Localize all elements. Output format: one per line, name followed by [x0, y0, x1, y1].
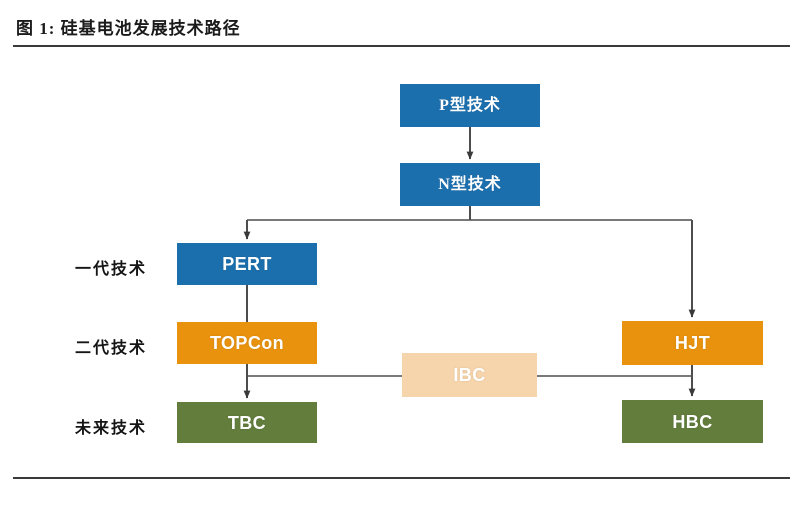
node-tbc[interactable]: TBC: [177, 402, 317, 443]
node-p-type[interactable]: P型技术: [400, 84, 540, 127]
diagram-canvas: 一代技术 二代技术 未来技术 P型技术 N型技术 PERT TOPCon TBC…: [0, 46, 808, 477]
page-title: 图 1: 硅基电池发展技术路径: [16, 14, 241, 39]
node-n-type[interactable]: N型技术: [400, 163, 540, 206]
row-label-gen2: 二代技术: [75, 334, 147, 358]
row-label-gen1: 一代技术: [75, 255, 147, 279]
node-hjt[interactable]: HJT: [622, 321, 763, 365]
row-label-future: 未来技术: [75, 414, 147, 438]
node-pert[interactable]: PERT: [177, 243, 317, 285]
footer-divider: [13, 477, 790, 479]
node-hbc[interactable]: HBC: [622, 400, 763, 443]
node-topcon[interactable]: TOPCon: [177, 322, 317, 364]
figure-page: 图 1: 硅基电池发展技术路径: [0, 0, 808, 516]
node-ibc[interactable]: IBC: [402, 353, 537, 397]
